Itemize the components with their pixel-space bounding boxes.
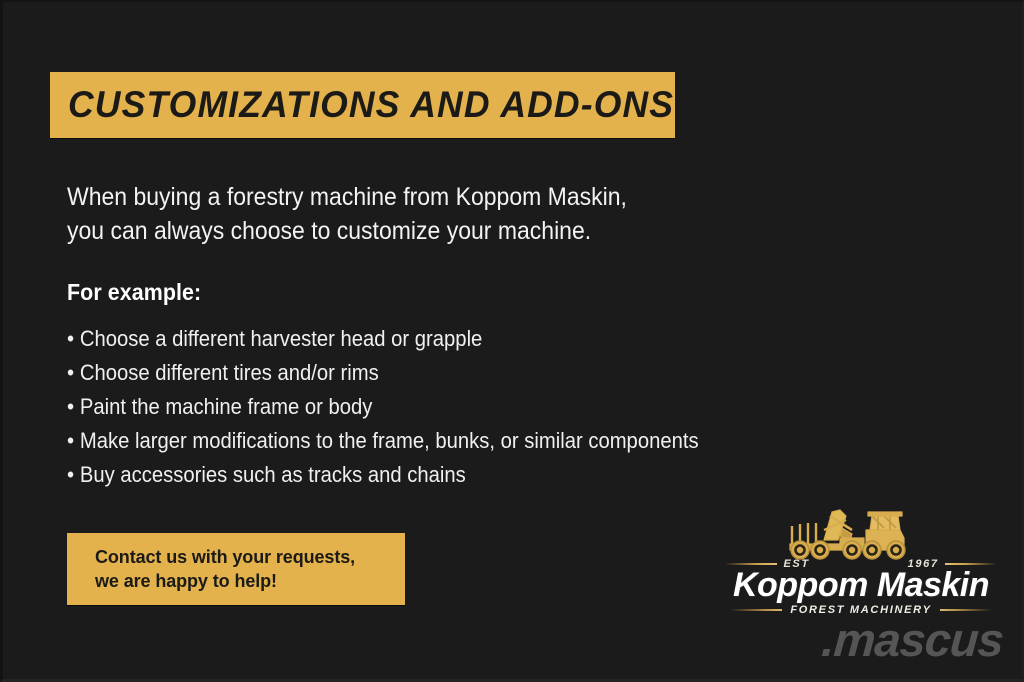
list-item: •Make larger modifications to the frame,… [67,424,785,458]
bullet-icon: • [67,424,80,458]
list-item: •Choose a different harvester head or gr… [67,322,785,356]
tagline-rule-left [730,609,782,611]
logo-brand-name: Koppom Maskin [730,566,992,605]
list-item: •Buy accessories such as tracks and chai… [67,458,785,492]
list-item-label: Choose different tires and/or rims [80,360,379,385]
tagline-rule-right [940,609,992,611]
logo-rule-right [945,563,997,565]
logo-rule-left [725,563,777,565]
intro-paragraph: When buying a forestry machine from Kopp… [67,180,767,248]
list-item-label: Paint the machine frame or body [80,394,373,419]
contact-line-1: Contact us with your requests, [95,545,405,569]
list-item: •Choose different tires and/or rims [67,356,785,390]
advertisement-card: CUSTOMIZATIONS AND ADD-ONS When buying a… [0,0,1024,682]
list-item-label: Buy accessories such as tracks and chain… [80,462,466,487]
forwarder-machine-icon [780,500,940,562]
list-item-label: Choose a different harvester head or gra… [80,326,482,351]
intro-line-2: you can always choose to customize your … [67,214,711,248]
contact-line-2: we are happy to help! [95,569,405,593]
bullet-icon: • [67,356,80,390]
title-banner: CUSTOMIZATIONS AND ADD-ONS [50,72,675,138]
contact-cta-box[interactable]: Contact us with your requests, we are ha… [67,533,405,605]
list-item: •Paint the machine frame or body [67,390,785,424]
mascus-watermark: .mascus [753,616,1004,664]
bullet-icon: • [67,322,80,356]
bullet-icon: • [67,458,80,492]
koppom-maskin-logo: EST 1967 Koppom Maskin FOREST MACHINERY [730,500,992,610]
intro-line-1: When buying a forestry machine from Kopp… [67,180,711,214]
page-title: CUSTOMIZATIONS AND ADD-ONS [68,84,674,126]
bullet-icon: • [67,390,80,424]
customization-options-list: •Choose a different harvester head or gr… [67,322,847,492]
list-item-label: Make larger modifications to the frame, … [80,428,699,453]
example-heading: For example: [67,279,201,306]
